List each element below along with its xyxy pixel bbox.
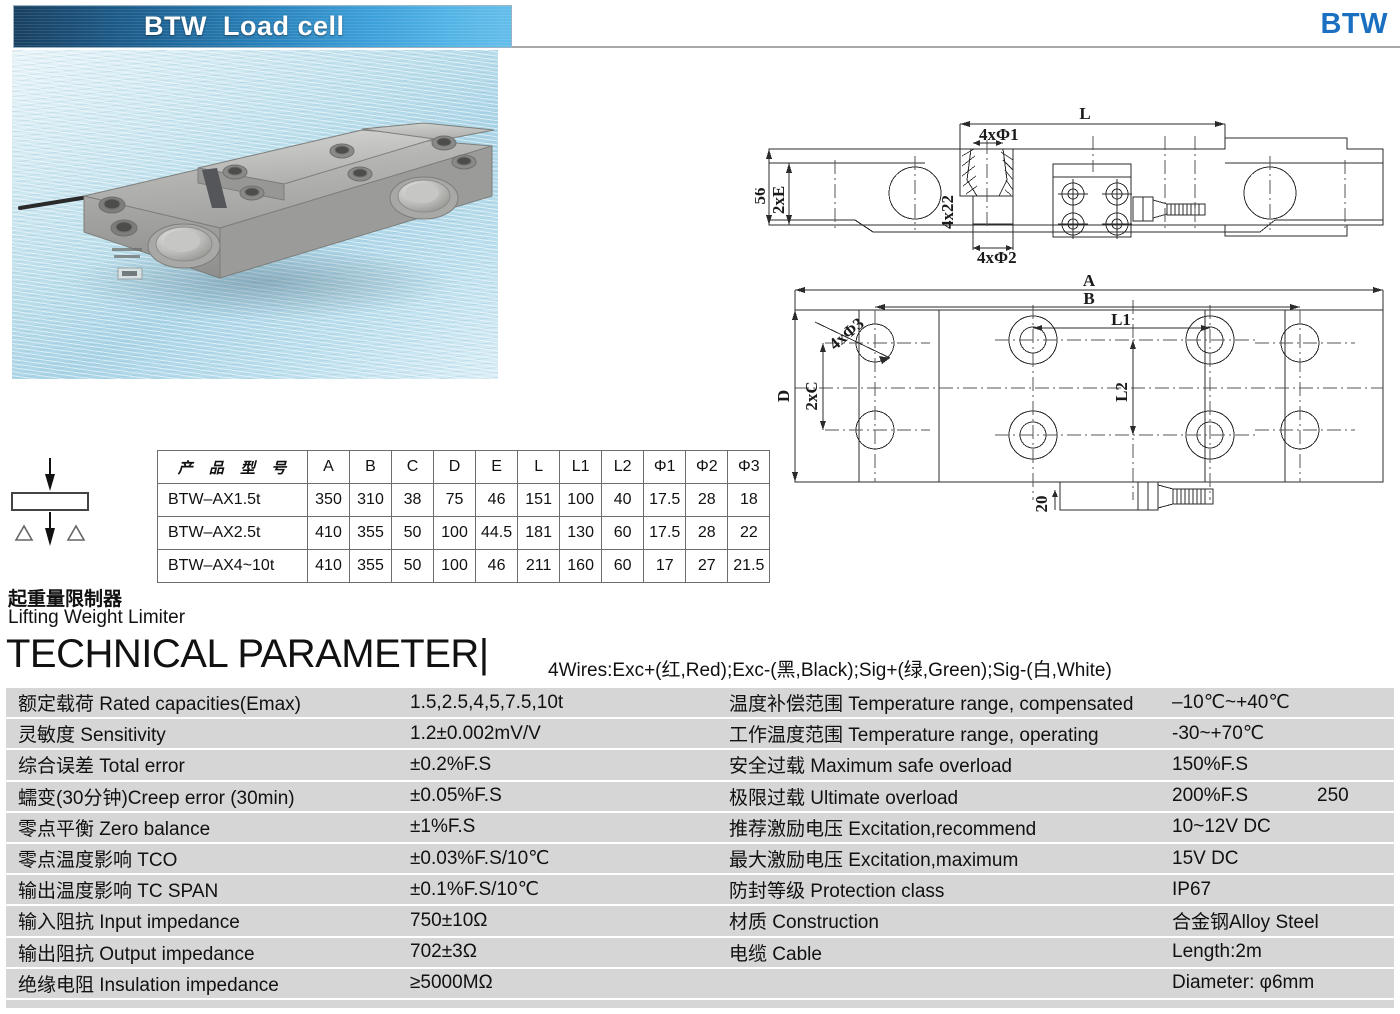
table-row: Diameter: φ6mm (717, 969, 1394, 1000)
title-banner: BTW Load cell (13, 5, 512, 48)
dim-value: 50 (392, 517, 434, 550)
spec-label: 蠕变(30分钟)Creep error (30min) (6, 783, 295, 810)
dim-value: 50 (392, 550, 434, 583)
dim-model: BTW–AX2.5t (158, 517, 308, 550)
table-row: 防封等级 Protection class IP67 (717, 875, 1394, 906)
table-row: 电缆 Cable Length:2m (717, 938, 1394, 969)
label-4x22: 4x22 (938, 195, 957, 229)
dim-value: 410 (308, 517, 350, 550)
dim-value: 27 (686, 550, 728, 583)
spec-label: 电缆 Cable (717, 939, 822, 966)
header-divider (512, 46, 1400, 48)
spec-value: 200%F.S (1172, 785, 1248, 807)
table-row: 综合误差 Total error ±0.2%F.S (6, 750, 717, 781)
spec-label: 零点温度影响 TCO (6, 845, 177, 872)
table-row: 输出温度影响 TC SPAN ±0.1%F.S/10℃ (6, 875, 717, 906)
dim-value: 46 (476, 550, 518, 583)
dim-value: 410 (308, 550, 350, 583)
spec-value: 150%F.S (1172, 754, 1248, 776)
table-row: 绝缘电阻 Insulation impedance ≥5000MΩ (6, 969, 717, 1000)
dim-header-model: 产 品 型 号 (158, 451, 308, 484)
dim-value: 46 (476, 484, 518, 517)
dim-value: 350 (308, 484, 350, 517)
table-row: 最大激励电压 Excitation,maximum 15V DC (717, 844, 1394, 875)
beam-load-support-diagram (6, 448, 146, 558)
spec-label: 最大激励电压 Excitation,maximum (717, 845, 1018, 872)
table-row: 输入阻抗 Input impedance 750±10Ω (6, 906, 717, 937)
spec-value: IP67 (1172, 879, 1211, 901)
dim-header-e: E (476, 451, 518, 484)
page-header: BTW Load cell BTW (0, 0, 1400, 52)
spec-label: 输出温度影响 TC SPAN (6, 876, 218, 903)
spec-value: ±1%F.S (410, 816, 475, 838)
dim-value: 310 (350, 484, 392, 517)
spec-label: 温度补偿范围 Temperature range, compensated (717, 689, 1133, 716)
label-D: D (774, 390, 793, 402)
dim-model: BTW–AX1.5t (158, 484, 308, 517)
spec-label: 工作温度范围 Temperature range, operating (717, 720, 1099, 747)
dim-value: 100 (434, 517, 476, 550)
spec-value: -30~+70℃ (1172, 722, 1264, 745)
spec-value: 10~12V DC (1172, 816, 1271, 838)
spec-label: 绝缘电阻 Insulation impedance (6, 970, 279, 997)
banner-title: BTW Load cell (144, 11, 345, 42)
spec-value: 1.5,2.5,4,5,7.5,10t (410, 692, 563, 714)
dim-header-d: D (434, 451, 476, 484)
table-row: 极限过载 Ultimate overload 200%F.S 250 (717, 782, 1394, 813)
table-row: 推荐激励电压 Excitation,recommend 10~12V DC (717, 813, 1394, 844)
spec-column-right: 温度补偿范围 Temperature range, compensated –1… (717, 688, 1394, 1008)
specification-table: 额定载荷 Rated capacities(Emax) 1.5,2.5,4,5,… (6, 686, 1394, 1008)
label-L1: L1 (1111, 310, 1131, 329)
dim-value: 44.5 (476, 517, 518, 550)
dim-value: 60 (602, 517, 644, 550)
page-title: TECHNICAL PARAMETER| (6, 632, 489, 677)
dimension-table: 产 品 型 号 A B C D E L L1 L2 Φ1 Φ2 Φ3 BTW–A… (157, 450, 770, 583)
label-L: L (1079, 104, 1090, 123)
technical-drawings: L 4xΦ1 4xΦ2 56 2xE 4x22 A B L1 L2 D 2xC … (755, 100, 1395, 570)
spec-label: 额定载荷 Rated capacities(Emax) (6, 689, 301, 716)
dim-value: 181 (518, 517, 560, 550)
dim-value: 355 (350, 550, 392, 583)
dim-header-phi1: Φ1 (644, 451, 686, 484)
label-56: 56 (755, 188, 769, 205)
spec-label: 输出阻抗 Output impedance (6, 939, 255, 966)
dim-header-l2: L2 (602, 451, 644, 484)
spec-column-left: 额定载荷 Rated capacities(Emax) 1.5,2.5,4,5,… (6, 688, 717, 1008)
lifting-weight-limiter-en: Lifting Weight Limiter (8, 607, 185, 629)
dim-model: BTW–AX4~10t (158, 550, 308, 583)
dim-value: 355 (350, 517, 392, 550)
spec-value: ±0.2%F.S (410, 754, 491, 776)
spec-label: 综合误差 Total error (6, 751, 185, 778)
spec-label: 材质 Construction (717, 907, 879, 934)
table-row: 工作温度范围 Temperature range, operating -30~… (717, 719, 1394, 750)
spec-value: 1.2±0.002mV/V (410, 723, 541, 745)
wire-color-legend: 4Wires:Exc+(红,Red);Exc-(黑,Black);Sig+(绿,… (548, 655, 1112, 682)
brand-logo: BTW (1320, 8, 1388, 41)
dim-value: 151 (518, 484, 560, 517)
spec-label: 推荐激励电压 Excitation,recommend (717, 814, 1036, 841)
dim-value: 28 (686, 484, 728, 517)
dim-header-b: B (350, 451, 392, 484)
spec-extra-value: 250 (1317, 785, 1349, 807)
spec-label: 安全过载 Maximum safe overload (717, 751, 1012, 778)
table-row: 材质 Construction 合金钢Alloy Steel (717, 906, 1394, 937)
spec-label: 防封等级 Protection class (717, 876, 944, 903)
dim-header-l1: L1 (560, 451, 602, 484)
spec-value: ±0.1%F.S/10℃ (410, 878, 539, 901)
table-row: 灵敏度 Sensitivity 1.2±0.002mV/V (6, 719, 717, 750)
table-row: 温度补偿范围 Temperature range, compensated –1… (717, 688, 1394, 719)
table-row: BTW–AX4~10t 410 355 50 100 46 211 160 60… (158, 550, 770, 583)
label-2xC: 2xC (802, 381, 821, 410)
dim-value: 38 (392, 484, 434, 517)
dim-value: 17.5 (644, 484, 686, 517)
table-row: 零点温度影响 TCO ±0.03%F.S/10℃ (6, 844, 717, 875)
table-row: BTW–AX2.5t 410 355 50 100 44.5 181 130 6… (158, 517, 770, 550)
table-row: 输出阻抗 Output impedance 702±3Ω (6, 938, 717, 969)
dim-value: 40 (602, 484, 644, 517)
label-20: 20 (1032, 496, 1051, 513)
label-A: A (1083, 271, 1096, 290)
table-row: BTW–AX1.5t 350 310 38 75 46 151 100 40 1… (158, 484, 770, 517)
spec-value: 15V DC (1172, 848, 1239, 870)
label-2xE: 2xE (769, 186, 788, 214)
spec-value: ±0.05%F.S (410, 785, 502, 807)
product-photo (12, 50, 498, 379)
spec-value: ±0.03%F.S/10℃ (410, 847, 550, 870)
spec-value: 702±3Ω (410, 941, 477, 963)
dimension-table-header-row: 产 品 型 号 A B C D E L L1 L2 Φ1 Φ2 Φ3 (158, 451, 770, 484)
dim-value: 17 (644, 550, 686, 583)
dim-header-l: L (518, 451, 560, 484)
dim-value: 75 (434, 484, 476, 517)
dim-value: 100 (434, 550, 476, 583)
dim-value: 211 (518, 550, 560, 583)
top-view-drawing (792, 287, 1383, 510)
label-4xPhi2: 4xΦ2 (977, 248, 1017, 267)
dim-header-a: A (308, 451, 350, 484)
spec-value: ≥5000MΩ (410, 972, 493, 994)
side-view-drawing (766, 121, 1383, 251)
label-B: B (1083, 289, 1094, 308)
spec-label: 零点平衡 Zero balance (6, 814, 210, 841)
dim-value: 130 (560, 517, 602, 550)
table-row: 额定载荷 Rated capacities(Emax) 1.5,2.5,4,5,… (6, 688, 717, 719)
spec-value: 750±10Ω (410, 910, 487, 932)
dim-value: 100 (560, 484, 602, 517)
dim-header-c: C (392, 451, 434, 484)
spec-label: 极限过载 Ultimate overload (717, 783, 958, 810)
dim-value: 160 (560, 550, 602, 583)
dim-value: 60 (602, 550, 644, 583)
spec-value: 合金钢Alloy Steel (1172, 907, 1319, 934)
table-row: 蠕变(30分钟)Creep error (30min) ±0.05%F.S (6, 782, 717, 813)
spec-value: Diameter: φ6mm (1172, 972, 1314, 994)
dim-header-phi2: Φ2 (686, 451, 728, 484)
spec-label: 输入阻抗 Input impedance (6, 907, 240, 934)
spec-value: Length:2m (1172, 941, 1262, 963)
dim-value: 17.5 (644, 517, 686, 550)
spec-value: –10℃~+40℃ (1172, 691, 1290, 714)
load-cell-illustration (12, 50, 498, 379)
dim-value: 28 (686, 517, 728, 550)
table-row: 零点平衡 Zero balance ±1%F.S (6, 813, 717, 844)
spec-label: 灵敏度 Sensitivity (6, 720, 166, 747)
table-row: 安全过载 Maximum safe overload 150%F.S (717, 750, 1394, 781)
label-4xPhi1: 4xΦ1 (979, 125, 1019, 144)
label-L2: L2 (1112, 382, 1131, 402)
